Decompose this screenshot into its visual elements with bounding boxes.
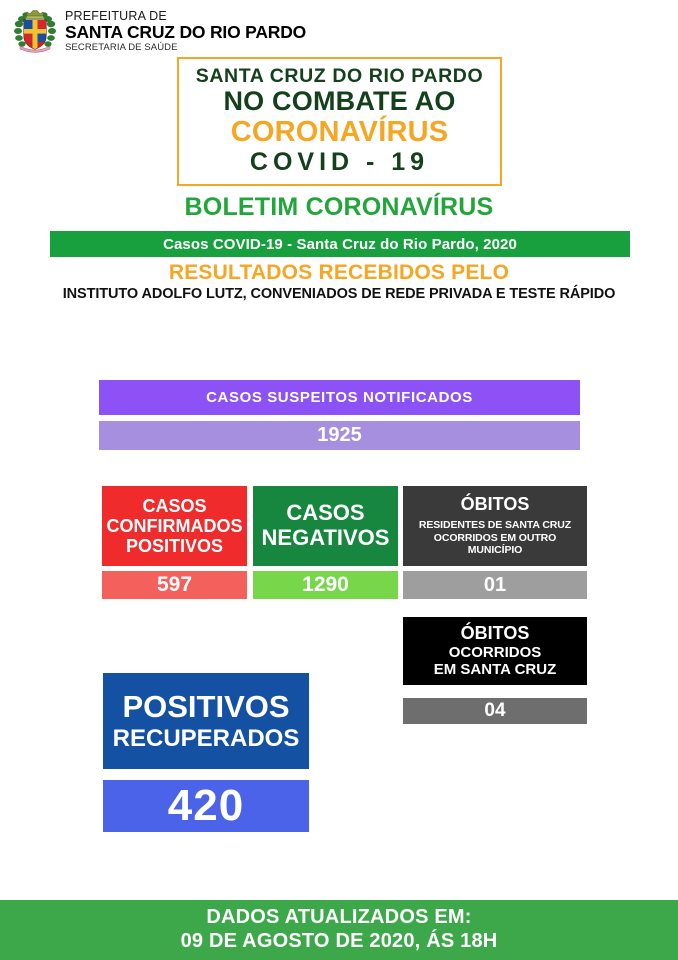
suspeitos-label: CASOS SUSPEITOS NOTIFICADOS (206, 389, 473, 406)
cases-banner-label: Casos COVID-19 - Santa Cruz do Rio Pardo… (163, 236, 517, 253)
footer-line-date: 09 DE AGOSTO DE 2020, ÁS 18H (181, 930, 498, 954)
coat-of-arms-icon (13, 8, 57, 54)
confirmados-label-line2: CONFIRMADOS (107, 516, 243, 536)
title-line-city: SANTA CRUZ DO RIO PARDO (185, 66, 494, 86)
footer-line-label: DADOS ATUALIZADOS EM: (206, 906, 471, 930)
negativos-value: 1290 (253, 571, 398, 599)
obitos-santa-cruz-value: 04 (403, 698, 587, 724)
obitos-outro-label-sub-line1: RESIDENTES DE SANTA CRUZ (419, 519, 571, 531)
confirmados-label: CASOS CONFIRMADOS POSITIVOS (107, 496, 243, 556)
obitos-sc-label-main: ÓBITOS (461, 623, 530, 644)
cases-banner: Casos COVID-19 - Santa Cruz do Rio Pardo… (50, 231, 630, 257)
footer-update-banner: DADOS ATUALIZADOS EM: 09 DE AGOSTO DE 20… (0, 900, 678, 960)
instituto-heading: INSTITUTO ADOLFO LUTZ, CONVENIADOS DE RE… (0, 286, 678, 302)
brand-line-secretaria: SECRETARIA DE SAÚDE (65, 43, 306, 53)
brand-line-prefeitura: PREFEITURA DE (65, 10, 306, 23)
negativos-header: CASOS NEGATIVOS (253, 486, 398, 566)
obitos-outro-label-sub-line2: OCORRIDOS EM OUTRO MUNICÍPIO (434, 532, 556, 557)
confirmados-label-line3: POSITIVOS (126, 536, 223, 556)
confirmados-header: CASOS CONFIRMADOS POSITIVOS (102, 486, 247, 566)
confirmados-label-line1: CASOS (142, 496, 206, 516)
negativos-label-line2: NEGATIVOS (262, 525, 390, 550)
recuperados-value: 420 (103, 780, 309, 832)
obitos-santa-cruz-header: ÓBITOS OCORRIDOS EM SANTA CRUZ (403, 617, 587, 685)
obitos-sc-label-sub: OCORRIDOS EM SANTA CRUZ (434, 644, 557, 679)
recuperados-label-sub: RECUPERADOS (113, 726, 300, 751)
title-line-covid19: COVID - 19 (185, 149, 494, 175)
boletim-heading: BOLETIM CORONAVÍRUS (0, 193, 678, 222)
negativos-label: CASOS NEGATIVOS (262, 501, 390, 550)
brand-line-city: SANTA CRUZ DO RIO PARDO (65, 24, 306, 42)
confirmados-value: 597 (102, 571, 247, 599)
obitos-outro-municipio-value: 01 (403, 571, 587, 599)
obitos-outro-municipio-header: ÓBITOS RESIDENTES DE SANTA CRUZ OCORRIDO… (403, 486, 587, 566)
obitos-sc-label-sub-line2: EM SANTA CRUZ (434, 661, 557, 678)
negativos-label-line1: CASOS (286, 500, 364, 525)
obitos-outro-label-main: ÓBITOS (461, 495, 530, 515)
resultados-heading: RESULTADOS RECEBIDOS PELO (0, 261, 678, 285)
suspeitos-value: 1925 (99, 421, 580, 450)
suspeitos-header: CASOS SUSPEITOS NOTIFICADOS (99, 380, 580, 415)
recuperados-header: POSITIVOS RECUPERADOS (103, 673, 309, 769)
title-line-coronavirus: CORONAVÍRUS (185, 117, 494, 147)
recuperados-label-main: POSITIVOS (122, 691, 289, 724)
obitos-sc-label-sub-line1: OCORRIDOS (449, 644, 542, 661)
obitos-outro-label-sub: RESIDENTES DE SANTA CRUZ OCORRIDOS EM OU… (407, 519, 583, 557)
brand-header: PREFEITURA DE SANTA CRUZ DO RIO PARDO SE… (13, 8, 306, 54)
title-box: SANTA CRUZ DO RIO PARDO NO COMBATE AO CO… (177, 57, 502, 186)
title-line-combate: NO COMBATE AO (185, 87, 494, 115)
